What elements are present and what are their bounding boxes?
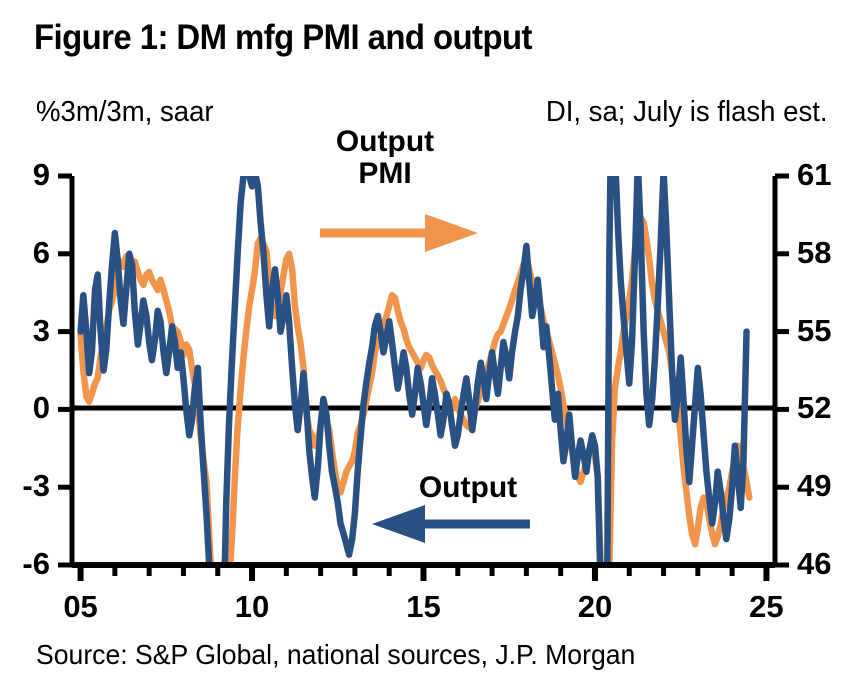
annotation-output-pmi-line1: Output bbox=[336, 126, 434, 158]
right-axis-tick-label: 46 bbox=[797, 548, 831, 579]
left-axis-tick-label: -3 bbox=[22, 470, 50, 501]
right-axis-tick-label: 58 bbox=[797, 237, 831, 268]
output-arrow-head-icon bbox=[372, 505, 425, 543]
right-axis-tick-label: 52 bbox=[797, 392, 831, 423]
x-axis-tick-label: 25 bbox=[749, 591, 783, 622]
right-axis-tick-label: 55 bbox=[797, 315, 831, 346]
left-axis-tick-label: 3 bbox=[33, 315, 50, 346]
source-note: Source: S&P Global, national sources, J.… bbox=[36, 639, 635, 671]
right-axis-tick-label: 49 bbox=[797, 470, 831, 501]
x-axis-tick-label: 15 bbox=[406, 591, 440, 622]
x-axis-tick-label: 20 bbox=[578, 591, 612, 622]
left-axis-tick-label: 0 bbox=[33, 392, 50, 423]
x-axis-tick-label: 10 bbox=[235, 591, 269, 622]
annotation-output: Output bbox=[419, 472, 517, 504]
figure-container: Figure 1: DM mfg PMI and output %3m/3m, … bbox=[0, 0, 852, 689]
left-axis-tick-label: -6 bbox=[22, 548, 50, 579]
chart-plot-area bbox=[0, 0, 852, 689]
annotation-output-pmi: Output PMI bbox=[336, 126, 434, 190]
left-axis-tick-label: 6 bbox=[33, 237, 50, 268]
output-pmi-arrow-head-icon bbox=[425, 214, 478, 252]
left-axis-tick-label: 9 bbox=[33, 159, 50, 190]
x-axis-tick-label: 05 bbox=[63, 591, 97, 622]
annotation-output-pmi-line2: PMI bbox=[336, 158, 434, 190]
right-axis-tick-label: 61 bbox=[797, 159, 831, 190]
